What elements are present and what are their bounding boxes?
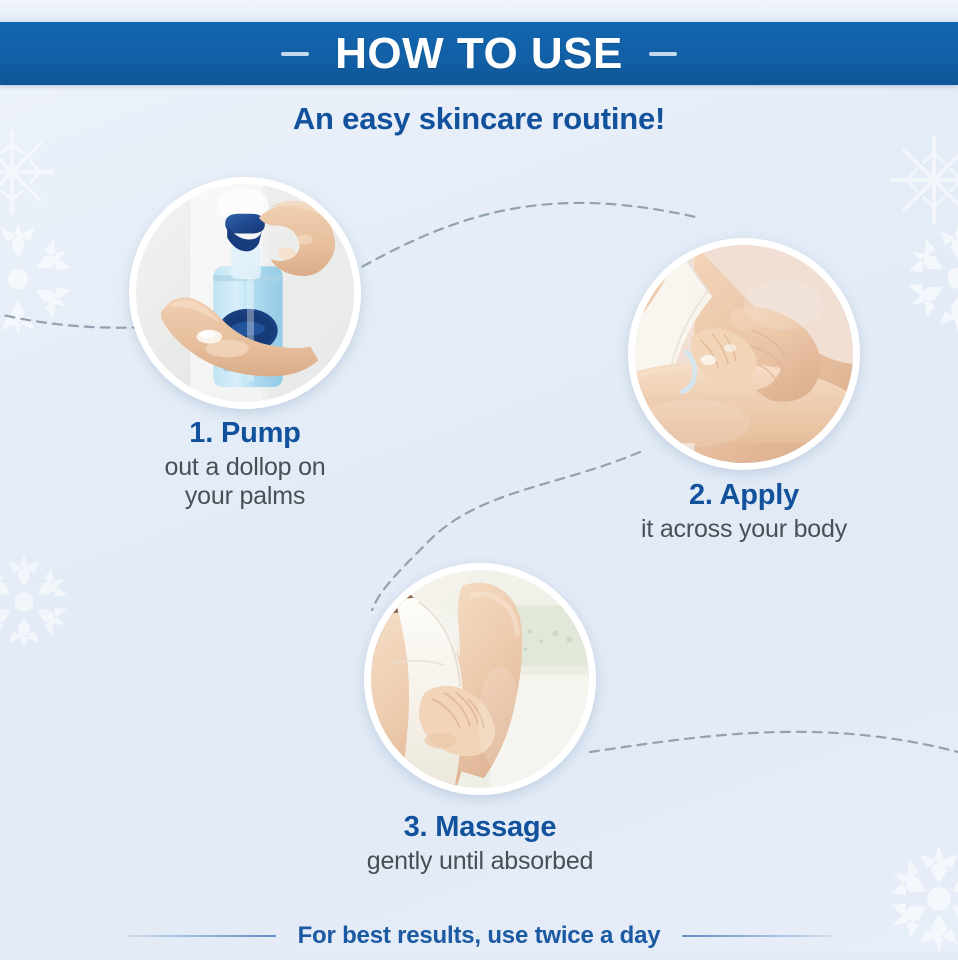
- subtitle: An easy skincare routine!: [0, 101, 958, 137]
- how-to-use-infographic: HOW TO USE An easy skincare routine!: [0, 0, 958, 960]
- top-strip: [0, 0, 958, 22]
- massaging-arm-photo: [371, 570, 589, 788]
- step-3-subtitle: gently until absorbed: [320, 847, 640, 877]
- dash-right-icon: [649, 52, 677, 56]
- step-2-caption: 2. Apply it across your body: [584, 480, 904, 544]
- footer-rule-left: [126, 935, 276, 937]
- step-2-subtitle-line-1: it across your body: [584, 515, 904, 545]
- footer-text: For best results, use twice a day: [298, 922, 661, 950]
- step-1-caption: 1. Pump out a dollop on your palms: [85, 418, 405, 512]
- step-1-subtitle-line-1: out a dollop on: [85, 453, 405, 483]
- step-2-title: 2. Apply: [584, 480, 904, 512]
- snowflake-icon: [0, 215, 82, 343]
- snowflake-icon: [0, 548, 78, 656]
- step-3-image: [364, 563, 596, 795]
- dash-left-icon: [281, 52, 309, 56]
- step-1-image: [129, 177, 361, 409]
- footer-rule-right: [682, 935, 832, 937]
- step-3-title: 3. Massage: [320, 812, 640, 844]
- header-banner: HOW TO USE: [0, 22, 958, 85]
- page-title: HOW TO USE: [335, 32, 623, 76]
- applying-lotion-to-arm-photo: [635, 245, 853, 463]
- hand-pumping-lotion-bottle-photo: [136, 184, 354, 402]
- step-1-photo: [136, 184, 354, 402]
- snowflake-icon: [886, 132, 958, 228]
- snowflake-icon: [0, 126, 58, 218]
- step-2-image: [628, 238, 860, 470]
- bottom-strip: [0, 952, 958, 960]
- connector-3-to-end: [590, 732, 958, 752]
- step-3-photo: [371, 570, 589, 788]
- step-1-title: 1. Pump: [85, 418, 405, 450]
- step-1-subtitle-line-2: your palms: [85, 482, 405, 512]
- step-3-caption: 3. Massage gently until absorbed: [320, 812, 640, 876]
- snowflake-icon: [898, 218, 958, 338]
- step-2-subtitle: it across your body: [584, 515, 904, 545]
- step-1-subtitle: out a dollop on your palms: [85, 453, 405, 512]
- step-3-subtitle-line-1: gently until absorbed: [320, 847, 640, 877]
- step-2-photo: [635, 245, 853, 463]
